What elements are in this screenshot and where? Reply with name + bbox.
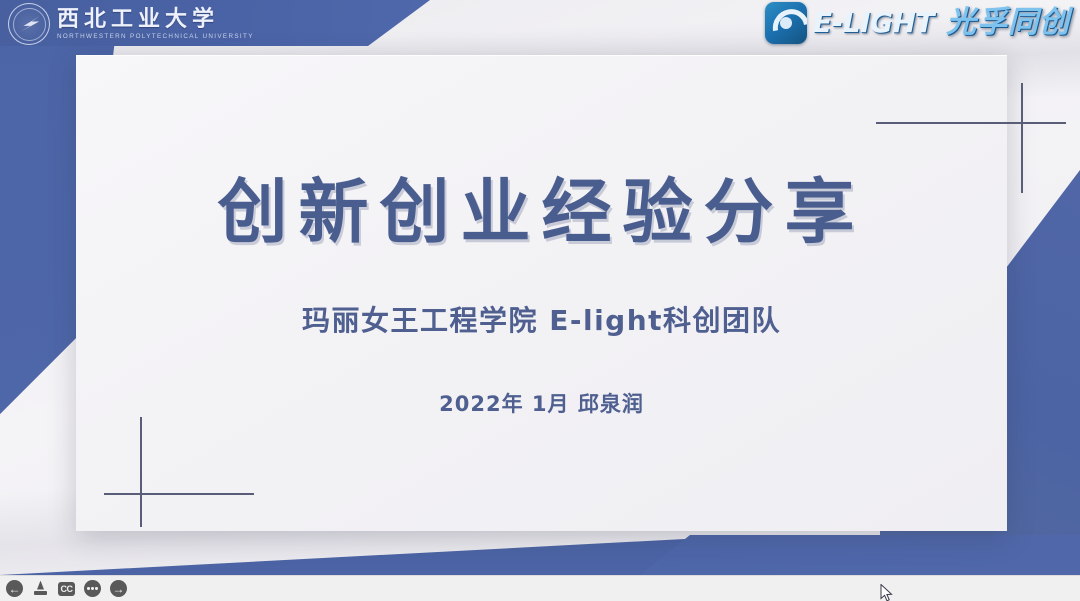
- back-button[interactable]: ←: [6, 580, 23, 597]
- slide-content-card: 创新创业经验分享 玛丽女王工程学院 E-light科创团队 2022年 1月 邱…: [76, 55, 1007, 531]
- sponsor-logo: E-LIGHT 光孚同创: [765, 2, 1070, 44]
- slide-subtitle: 玛丽女王工程学院 E-light科创团队: [76, 299, 1007, 339]
- presentation-viewer: 创新创业经验分享 玛丽女王工程学院 E-light科创团队 2022年 1月 邱…: [0, 0, 1080, 601]
- university-name-cn: 西北工业大学: [57, 8, 254, 31]
- slide-stage[interactable]: 创新创业经验分享 玛丽女王工程学院 E-light科创团队 2022年 1月 邱…: [0, 0, 1080, 575]
- university-name-en: NORTHWESTERN POLYTECHNICAL UNIVERSITY: [57, 33, 254, 40]
- forward-button[interactable]: →: [110, 580, 127, 597]
- slide-byline: 2022年 1月 邱泉润: [76, 388, 1007, 418]
- ellipsis-glyph: [84, 580, 101, 597]
- sponsor-wordmark: E-LIGHT: [813, 9, 934, 37]
- sponsor-name-cn: 光孚同创: [946, 8, 1070, 38]
- elight-swirl-icon: [765, 2, 807, 44]
- pen-icon: [33, 581, 48, 597]
- closed-caption-icon: CC: [58, 582, 75, 596]
- forward-arrow-icon: →: [110, 580, 127, 597]
- player-toolbar: ← CC →: [0, 575, 1080, 601]
- university-logo: 西北工业大学 NORTHWESTERN POLYTECHNICAL UNIVER…: [8, 3, 254, 45]
- nwpu-seal-icon: [8, 3, 50, 45]
- more-options-button[interactable]: [84, 580, 101, 597]
- annotate-button[interactable]: [32, 580, 49, 597]
- more-options-icon: [84, 580, 101, 597]
- slide-title: 创新创业经验分享: [76, 156, 1007, 257]
- back-arrow-icon: ←: [6, 580, 23, 597]
- forward-arrow-glyph: →: [110, 580, 127, 597]
- captions-button[interactable]: CC: [58, 580, 75, 597]
- university-logo-text: 西北工业大学 NORTHWESTERN POLYTECHNICAL UNIVER…: [57, 8, 254, 40]
- back-arrow-glyph: ←: [6, 580, 23, 597]
- decor-cross-bottom-left: [104, 417, 254, 527]
